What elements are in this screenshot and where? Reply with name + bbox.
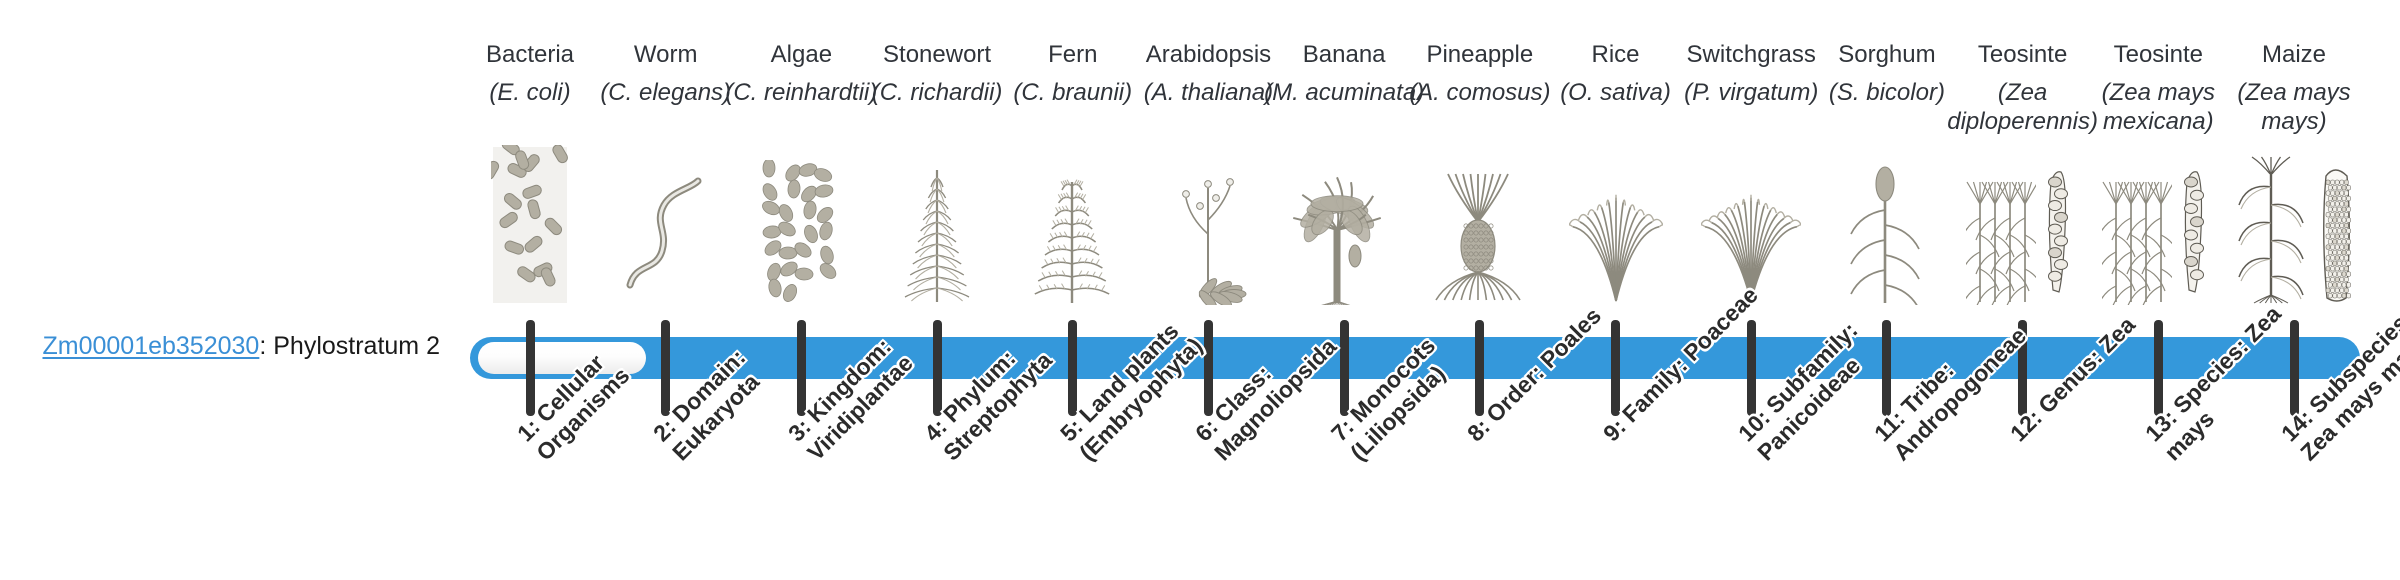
label-separator: : [259, 332, 273, 360]
gene-id-link[interactable]: Zm00001eb352030 [42, 332, 259, 360]
phylostratigraphy-figure: Zm00001eb352030: Phylostratum 2 Bacteria… [0, 0, 2400, 580]
maize-illustration [2212, 160, 2376, 305]
species-column-1: Bacteria(E. coli) [462, 0, 598, 580]
species-scientific-name: (Zea mays mays) [2212, 78, 2376, 136]
species-common-name: Maize [2212, 40, 2376, 69]
gene-phylostratum-label: Zm00001eb352030: Phylostratum 2 [40, 331, 440, 361]
phylostratum-value-text: Phylostratum 2 [273, 332, 440, 360]
